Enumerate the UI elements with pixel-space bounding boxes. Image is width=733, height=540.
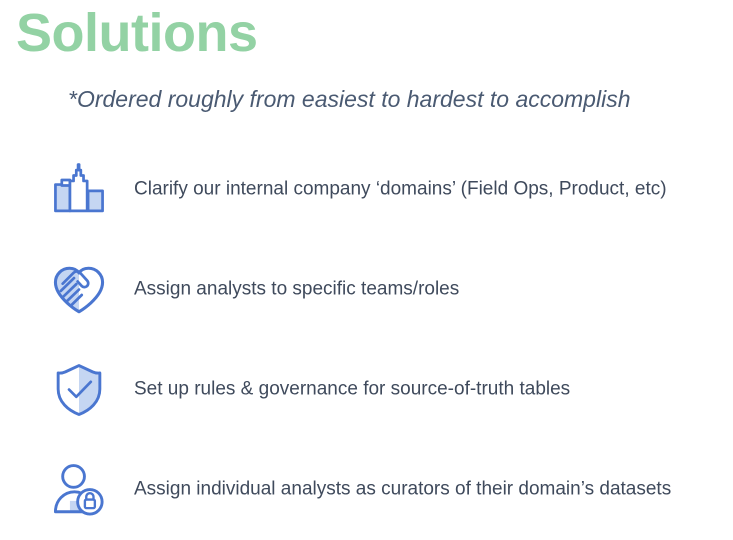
list-item-label: Clarify our internal company ‘domains’ (… [134,178,667,203]
list-item: Assign analysts to specific teams/roles [0,240,733,340]
page-subtitle: *Ordered roughly from easiest to hardest… [68,86,631,114]
list-item-label: Set up rules & governance for source-of-… [134,378,570,403]
solutions-slide: Solutions *Ordered roughly from easiest … [0,0,733,516]
list-item: Set up rules & governance for source-of-… [0,340,733,440]
solutions-list: Clarify our internal company ‘domains’ (… [0,140,733,540]
list-item-label: Assign individual analysts as curators o… [134,478,671,503]
list-item-label: Assign analysts to specific teams/roles [134,278,459,303]
page-title: Solutions [16,4,257,63]
heart-handshake-icon [50,261,108,319]
list-item: Assign individual analysts as curators o… [0,440,733,540]
shield-check-icon [50,361,108,419]
user-lock-icon [50,461,108,519]
city-buildings-icon [50,161,108,219]
list-item: Clarify our internal company ‘domains’ (… [0,140,733,240]
